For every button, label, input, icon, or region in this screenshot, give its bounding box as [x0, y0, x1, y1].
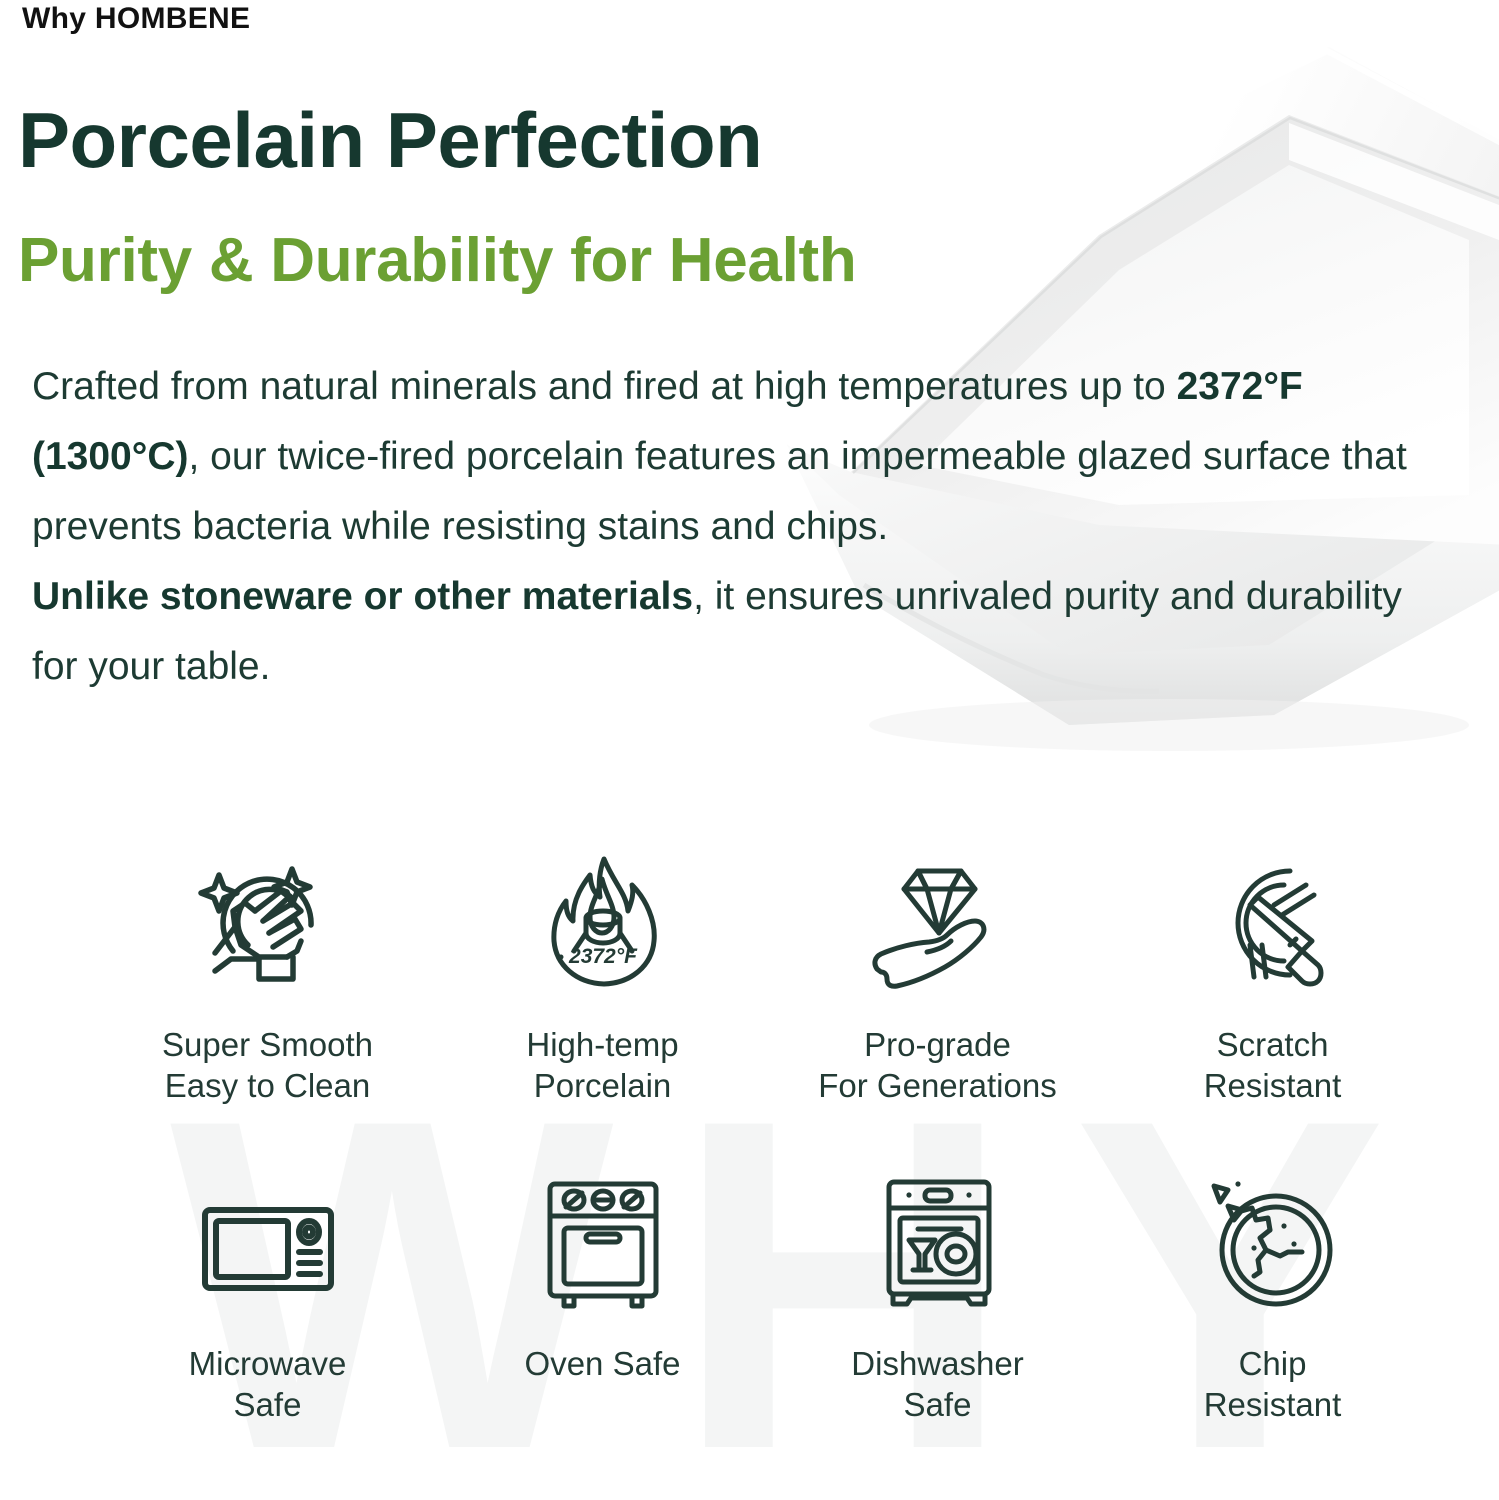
feature-item-chip-resistant: Chip Resistant	[1105, 1164, 1440, 1425]
chipped-plate-icon	[1193, 1164, 1353, 1329]
feature-label: Scratch Resistant	[1204, 1024, 1342, 1106]
feature-item-high-temp: 2372°F High-temp Porcelain	[435, 845, 770, 1106]
oven-stove-icon	[523, 1164, 683, 1329]
feature-label: Microwave Safe	[189, 1343, 347, 1425]
knife-scratch-plate-icon	[1193, 845, 1353, 1010]
infographic-page: WHY	[0, 0, 1499, 1500]
flame-temp-text: 2372°F	[568, 945, 638, 968]
feature-item-super-smooth: Super Smooth Easy to Clean	[100, 845, 435, 1106]
body-p1-part1: Crafted from natural minerals and fired …	[32, 365, 1177, 408]
comparison-highlight: Unlike stoneware or other materials	[32, 575, 693, 618]
feature-label: Dishwasher Safe	[851, 1343, 1023, 1425]
page-title: Porcelain Perfection	[18, 92, 762, 188]
polish-sparkle-icon	[188, 845, 348, 1010]
brand-eyebrow: Why HOMBENE	[22, 2, 250, 36]
page-subtitle: Purity & Durability for Health	[18, 220, 856, 302]
feature-label: Oven Safe	[525, 1343, 681, 1384]
feature-item-microwave-safe: Microwave Safe	[100, 1164, 435, 1425]
feature-grid: Super Smooth Easy to Clean 2372°F	[100, 845, 1440, 1425]
feature-label: Super Smooth Easy to Clean	[162, 1024, 373, 1106]
body-paragraph-2: Unlike stoneware or other materials, it …	[32, 562, 1422, 702]
flame-temperature-icon: 2372°F	[523, 845, 683, 1010]
diamond-hand-icon	[858, 845, 1018, 1010]
feature-item-oven-safe: Oven Safe	[435, 1164, 770, 1425]
feature-item-scratch-resistant: Scratch Resistant	[1105, 845, 1440, 1106]
feature-label: Chip Resistant	[1204, 1343, 1342, 1425]
microwave-icon	[188, 1164, 348, 1329]
body-paragraph-1: Crafted from natural minerals and fired …	[32, 352, 1422, 562]
body-copy: Crafted from natural minerals and fired …	[32, 352, 1422, 702]
feature-label: High-temp Porcelain	[526, 1024, 678, 1106]
dishwasher-icon	[858, 1164, 1018, 1329]
feature-item-dishwasher-safe: Dishwasher Safe	[770, 1164, 1105, 1425]
body-p1-part2: , our twice-fired porcelain features an …	[32, 435, 1407, 548]
feature-item-pro-grade: Pro-grade For Generations	[770, 845, 1105, 1106]
feature-label: Pro-grade For Generations	[818, 1024, 1056, 1106]
